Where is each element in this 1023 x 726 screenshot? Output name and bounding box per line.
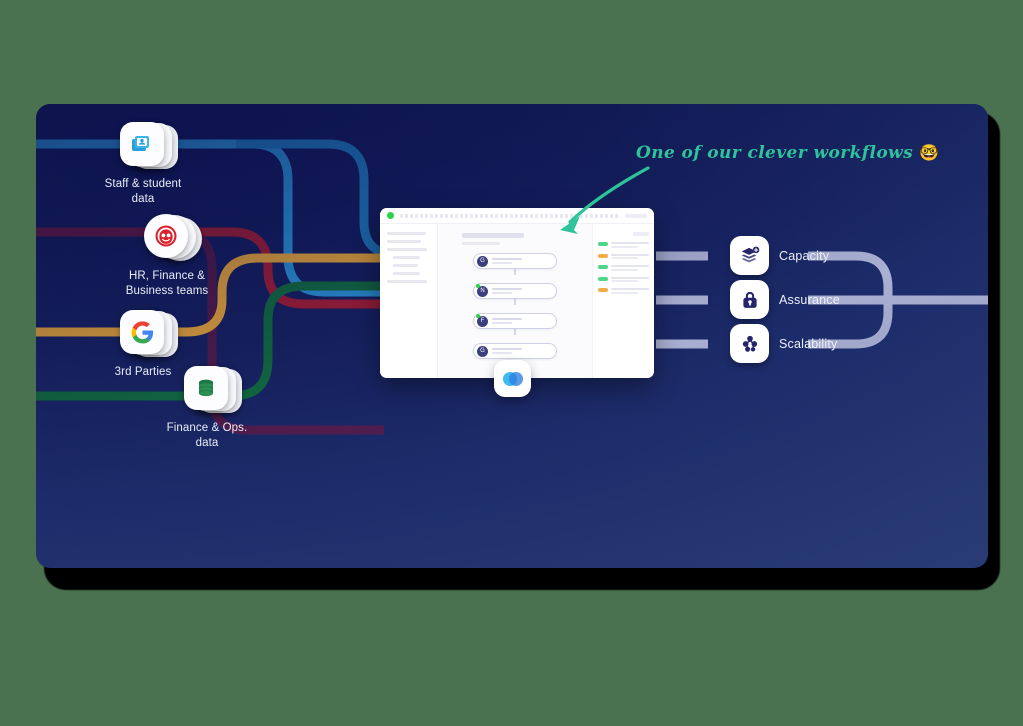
outcome-label: Assurance	[779, 293, 840, 307]
node-text-line	[492, 322, 512, 324]
node-text-line	[492, 262, 512, 264]
activity-text-line	[611, 246, 638, 248]
activity-badge	[598, 265, 608, 269]
source-staff-student-data[interactable]: Staff & student data	[120, 122, 218, 207]
node-text-line	[492, 288, 522, 290]
annotation-text: One of our clever workflows 🤓	[636, 143, 940, 163]
source-label: Finance & Ops. data	[132, 421, 282, 451]
node-text-line	[492, 348, 522, 350]
id-card-icon	[120, 122, 164, 166]
node-avatar: G	[477, 256, 488, 267]
activity-text-line	[611, 280, 638, 282]
source-label: HR, Finance & Business teams	[92, 269, 242, 299]
activity-text-line	[611, 292, 638, 294]
outcome-scalability[interactable]: Scalability	[730, 324, 837, 363]
node-text-line	[492, 258, 522, 260]
node-text	[492, 288, 522, 294]
people-face-icon	[144, 214, 188, 258]
activity-text	[611, 265, 649, 271]
molecule-icon	[730, 324, 769, 363]
source-finance-ops-data[interactable]: Finance & Ops. data	[184, 366, 282, 451]
node-text	[492, 348, 522, 354]
sidebar-line	[387, 232, 426, 235]
node-avatar: G	[477, 346, 488, 357]
workflow-node[interactable]: F	[473, 313, 557, 329]
activity-text	[611, 242, 649, 248]
outcome-capacity[interactable]: Capacity	[730, 236, 829, 275]
node-status-pip	[476, 284, 480, 288]
activity-text-line	[611, 265, 649, 267]
node-text	[492, 318, 522, 324]
workflow-node[interactable]: G	[473, 343, 557, 359]
sidebar-line	[393, 256, 420, 259]
sidebar-line	[393, 264, 418, 267]
activity-badge	[598, 254, 608, 258]
sidebar-panel[interactable]	[380, 224, 438, 378]
slide-canvas: .p { fill:none; stroke-linecap:butt; str…	[0, 0, 1023, 726]
sidebar-line	[387, 248, 427, 251]
workflow-node[interactable]: N	[473, 283, 557, 299]
sidebar-line	[387, 280, 427, 283]
outcome-label: Capacity	[779, 249, 829, 263]
activity-row[interactable]	[598, 265, 649, 271]
sidebar-line	[393, 272, 420, 275]
activity-rows	[598, 242, 649, 294]
activity-text-line	[611, 254, 649, 256]
activity-badge	[598, 288, 608, 292]
activity-row[interactable]	[598, 242, 649, 248]
overlapping-circles-logo	[501, 367, 525, 391]
google-icon	[120, 310, 164, 354]
activity-text-line	[611, 242, 649, 244]
activity-badge	[598, 242, 608, 246]
activity-panel[interactable]	[592, 224, 654, 378]
canvas-title-placeholder	[462, 233, 524, 238]
nerd-face-emoji: 🤓	[919, 143, 939, 162]
workflow-node[interactable]: G	[473, 253, 557, 269]
activity-row[interactable]	[598, 277, 649, 283]
node-text-line	[492, 292, 512, 294]
node-connector	[514, 299, 516, 305]
activity-text	[611, 277, 649, 283]
activity-row[interactable]	[598, 288, 649, 294]
node-text-line	[492, 318, 522, 320]
activity-text-line	[611, 257, 638, 259]
lock-icon	[730, 280, 769, 319]
annotation-label: One of our clever workflows	[636, 143, 913, 163]
outcome-assurance[interactable]: Assurance	[730, 280, 840, 319]
status-dot	[387, 212, 394, 219]
workflow-canvas[interactable]: GNFG	[438, 224, 592, 378]
sidebar-line	[387, 240, 421, 243]
activity-text-line	[611, 288, 649, 290]
outcome-label: Scalability	[779, 337, 837, 351]
curved-arrow-down-left-icon	[548, 160, 658, 240]
database-icon	[184, 366, 228, 410]
activity-text	[611, 288, 649, 294]
activity-text-line	[611, 269, 638, 271]
node-connector	[514, 269, 516, 275]
node-text	[492, 258, 522, 264]
workflow-node-list: GNFG	[473, 245, 557, 359]
browser-body: GNFG	[380, 224, 654, 378]
layers-plus-icon	[730, 236, 769, 275]
source-hr-finance-business-teams[interactable]: HR, Finance & Business teams	[144, 214, 242, 299]
source-label: Staff & student data	[68, 177, 218, 207]
node-connector	[514, 329, 516, 335]
activity-text	[611, 254, 649, 260]
node-text-line	[492, 352, 512, 354]
activity-row[interactable]	[598, 254, 649, 260]
activity-badge	[598, 277, 608, 281]
app-logo-badge[interactable]	[494, 360, 531, 397]
node-status-pip	[476, 314, 480, 318]
activity-text-line	[611, 277, 649, 279]
